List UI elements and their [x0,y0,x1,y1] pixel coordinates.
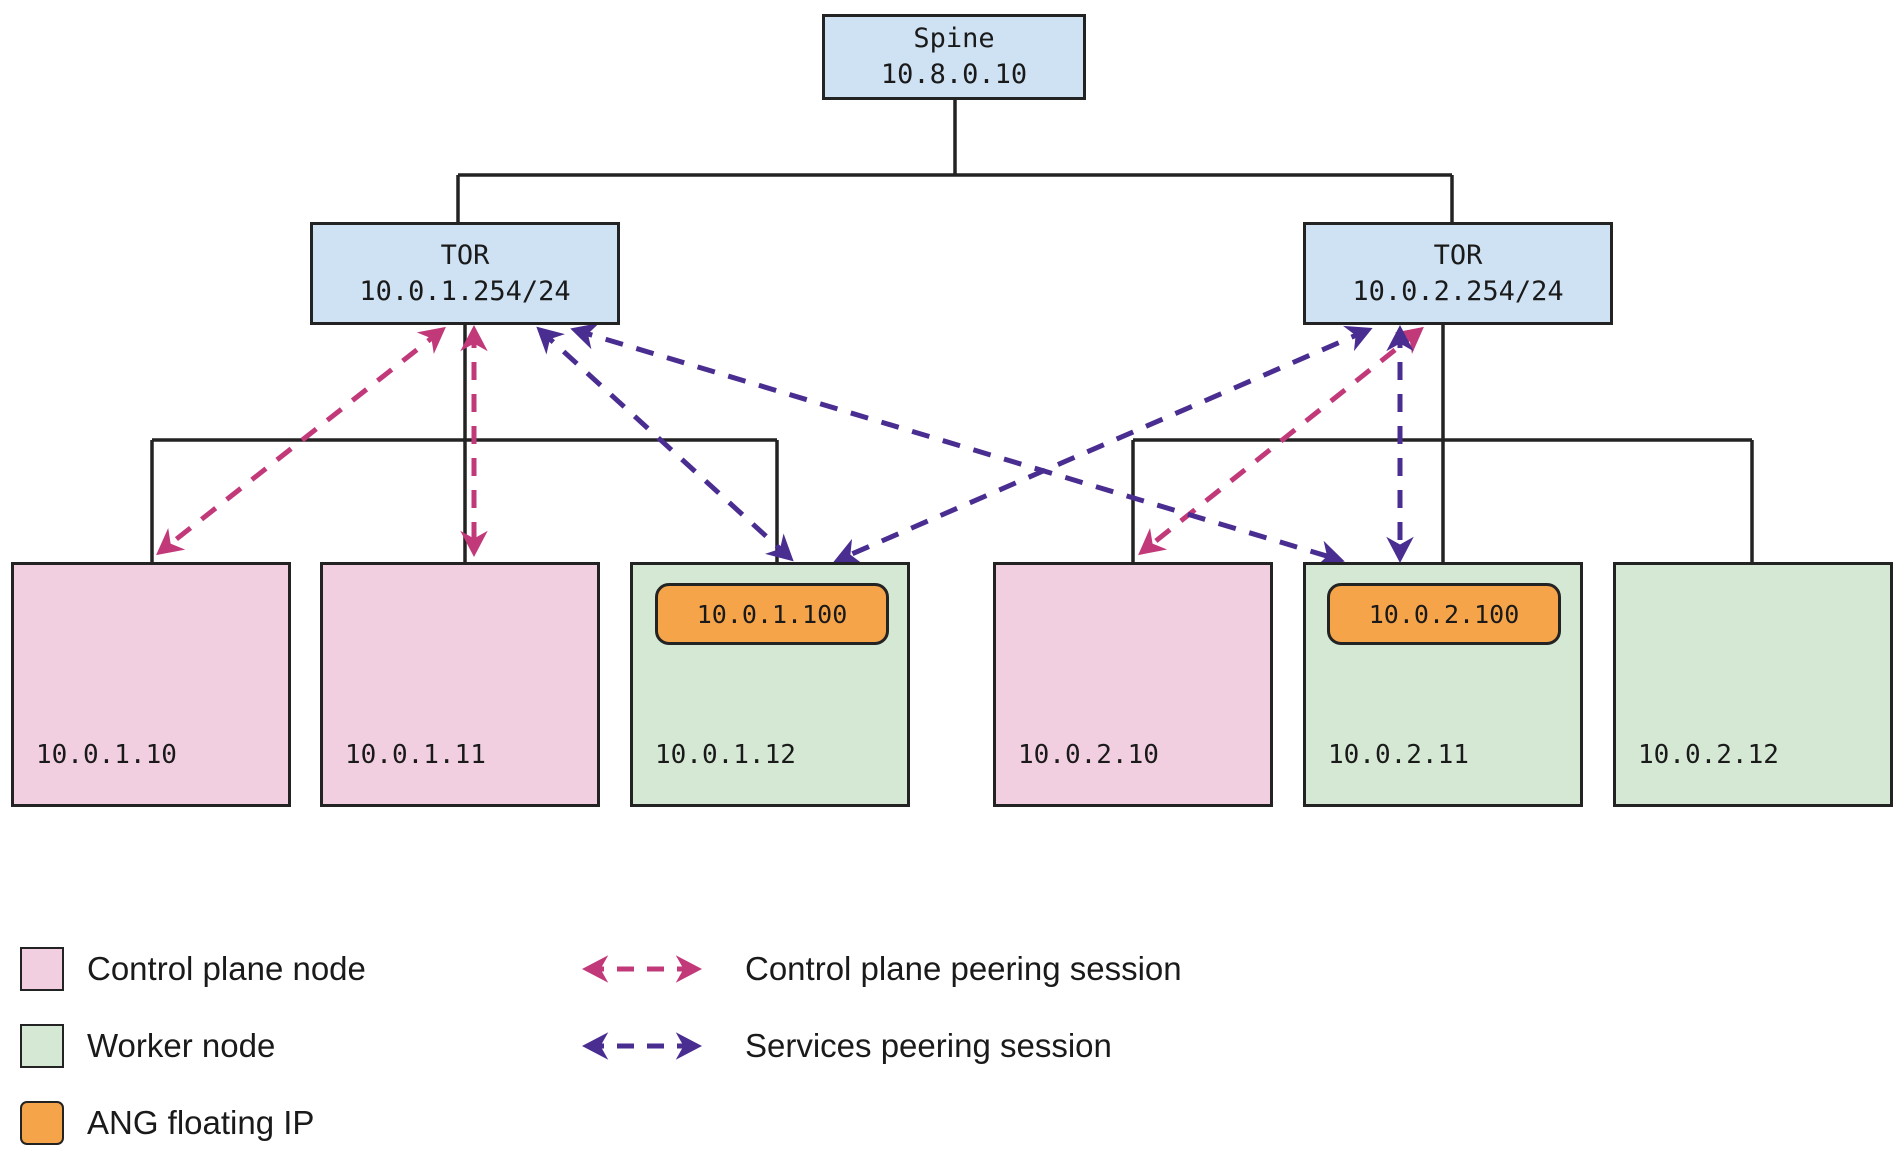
tor-switch-rack2[interactable]: TOR10.0.2.254/24 [1303,222,1613,325]
legend-swatch-floating-ip [20,1101,64,1145]
node-address-label: 10.0.2.10 [1018,738,1159,772]
peer-tor1-fip-10-0-1-100 [540,330,790,558]
floating-ip-label: 10.0.1.100 [697,600,848,629]
floating-ip-label: 10.0.2.100 [1369,600,1520,629]
node-10-0-2-10[interactable]: 10.0.2.10 [993,562,1273,807]
legend-label-floating-ip: ANG floating IP [87,1101,314,1145]
legend-label-worker: Worker node [87,1024,275,1068]
network-topology-diagram: Spine10.8.0.10 TOR10.0.1.254/24 TOR10.0.… [0,0,1904,1172]
legend-swatch-worker [20,1024,64,1068]
peer-tor1-node-10-0-1-10 [160,330,442,552]
peer-tor2-node-10-0-2-10 [1142,330,1420,552]
legend-label-control-plane: Control plane node [87,947,366,991]
control-plane-peering-links [160,330,1420,552]
legend-label-control-plane-peering: Control plane peering session [745,947,1182,991]
tor-rack2-label: TOR10.0.2.254/24 [1352,238,1563,309]
floating-ip-10-0-2-100[interactable]: 10.0.2.100 [1327,583,1561,645]
floating-ip-10-0-1-100[interactable]: 10.0.1.100 [655,583,889,645]
node-10-0-1-10[interactable]: 10.0.1.10 [11,562,291,807]
node-address-label: 10.0.1.10 [36,738,177,772]
legend-line-control-plane-peering [573,947,711,991]
services-peering-links [540,330,1400,560]
legend-line-services-peering [573,1024,711,1068]
spine-label: Spine10.8.0.10 [881,21,1027,92]
peer-tor1-fip-10-0-2-100 [575,330,1340,560]
node-address-label: 10.0.1.11 [345,738,486,772]
peer-tor2-fip-10-0-1-100 [838,330,1368,560]
node-address-label: 10.0.2.12 [1638,738,1779,772]
node-10-0-1-11[interactable]: 10.0.1.11 [320,562,600,807]
legend-swatch-control-plane [20,947,64,991]
node-address-label: 10.0.2.11 [1328,738,1469,772]
tor-switch-rack1[interactable]: TOR10.0.1.254/24 [310,222,620,325]
rack-cabling [152,100,1752,565]
spine-switch[interactable]: Spine10.8.0.10 [822,14,1086,100]
node-10-0-2-12[interactable]: 10.0.2.12 [1613,562,1893,807]
node-address-label: 10.0.1.12 [655,738,796,772]
tor-rack1-label: TOR10.0.1.254/24 [359,238,570,309]
legend-label-services-peering: Services peering session [745,1024,1112,1068]
